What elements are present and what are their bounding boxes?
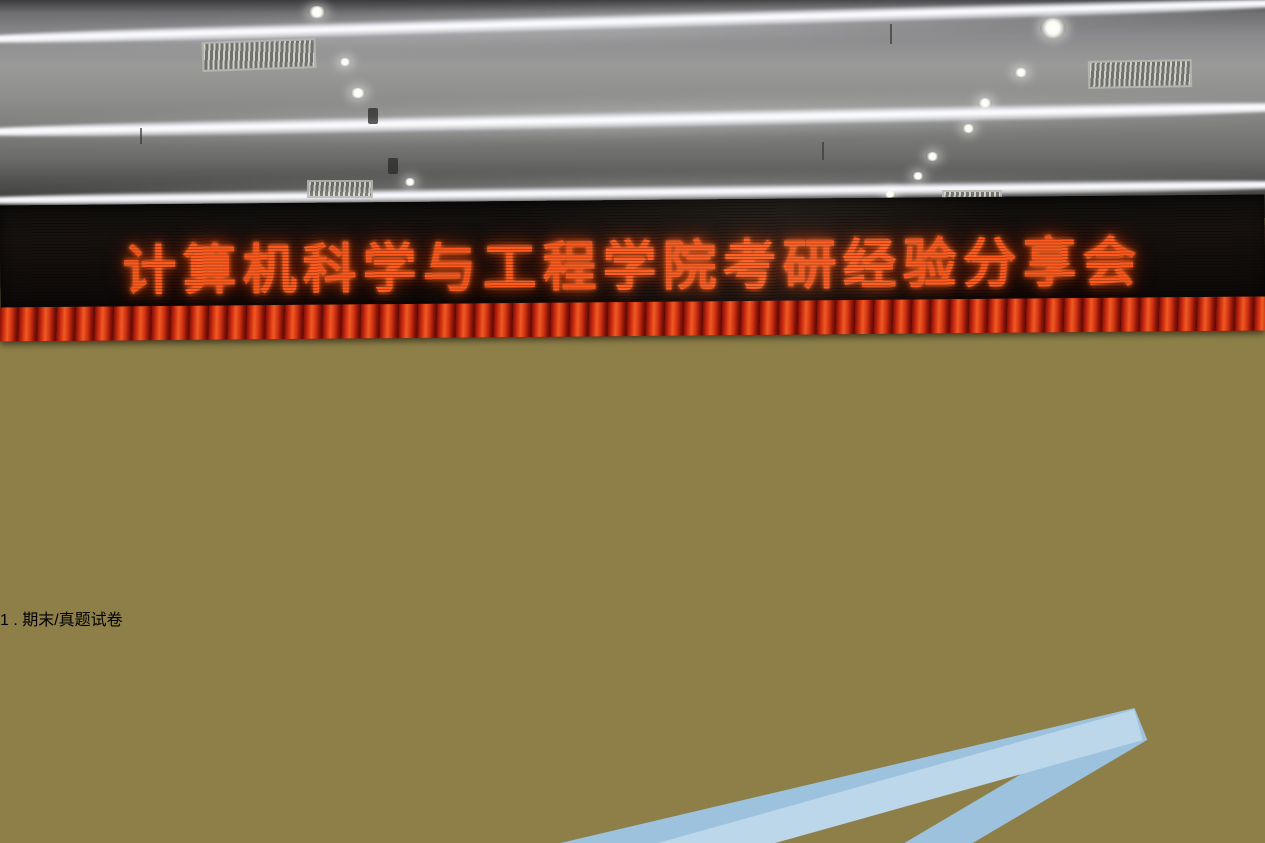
hvac-vent [1088, 59, 1192, 89]
paper-plane-icon [0, 630, 1265, 843]
ceiling-downlight [350, 88, 366, 98]
ceiling-speaker [388, 158, 398, 174]
ceiling-hanger-rod [140, 128, 142, 144]
slide-section-heading: 1 . 期末/真题试卷 [0, 606, 1265, 630]
ceiling-downlight [978, 98, 992, 108]
ceiling-downlight [912, 172, 924, 180]
ceiling-downlight [926, 152, 939, 161]
ceiling-downlight [962, 124, 975, 133]
lightbulb-icon [0, 378, 1265, 457]
ceiling-downlight [1040, 18, 1066, 38]
ceiling-downlight [404, 178, 416, 186]
ceiling-speaker [368, 108, 378, 124]
lecture-hall-photo: 计算机科学与工程学院考研经验分享会 [0, 0, 1265, 843]
ceiling-hanger-rod [890, 24, 892, 44]
ceiling-downlight [1014, 68, 1028, 77]
ceiling-downlight [339, 58, 351, 66]
lightbulb-icon [0, 530, 1265, 606]
slide-content-column: 1 . 期末/真题试卷 真题可能参照期末出，做几套熟悉一下院校题型。 2 . 算… [0, 606, 1265, 843]
slide-section: 1 . 期末/真题试卷 真题可能参照期末出，做几套熟悉一下院校题型。 [0, 606, 1265, 843]
ceiling-hanger-rod [822, 142, 824, 160]
ceiling [0, 0, 1265, 218]
ceiling-downlight [308, 6, 326, 18]
lightbulb-icon [0, 457, 1265, 530]
hvac-vent [202, 38, 317, 72]
hvac-vent [307, 180, 373, 198]
